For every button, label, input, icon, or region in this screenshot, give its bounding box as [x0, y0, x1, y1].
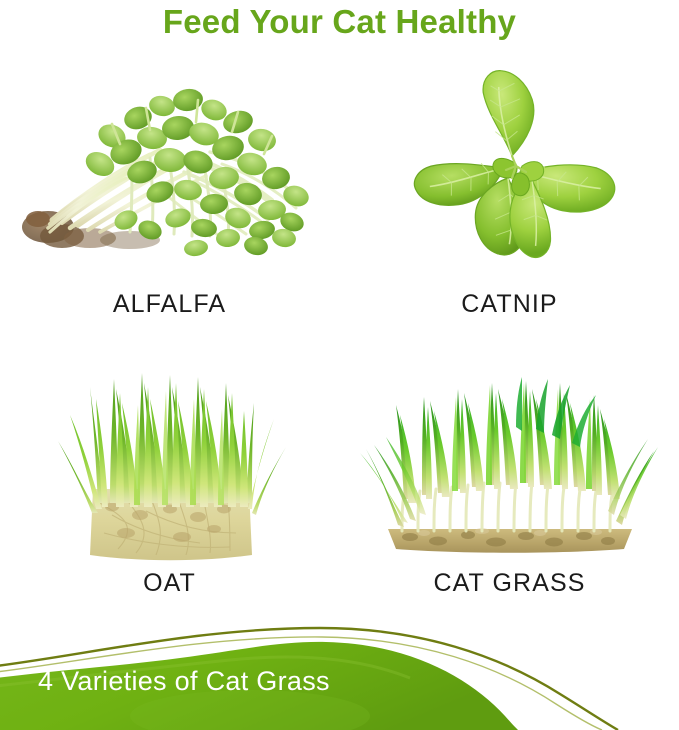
- oat-grass-photo: [0, 343, 339, 571]
- variety-label-catnip: CATNIP: [340, 288, 679, 320]
- variety-label-alfalfa: ALFALFA: [0, 288, 339, 320]
- variety-grid: ALFALFA: [0, 60, 679, 625]
- banner-text: 4 Varieties of Cat Grass: [38, 664, 330, 698]
- bottom-banner: 4 Varieties of Cat Grass: [0, 620, 679, 730]
- variety-label-oat: OAT: [0, 567, 339, 599]
- catnip-leaves-photo: [340, 60, 679, 288]
- variety-cell-catnip: CATNIP: [340, 60, 679, 342]
- variety-label-cat-grass: CAT GRASS: [340, 567, 679, 599]
- page-title: Feed Your Cat Healthy: [0, 2, 679, 42]
- infographic-root: Feed Your Cat Healthy: [0, 0, 679, 730]
- cat-grass-photo: [340, 343, 679, 571]
- alfalfa-sprouts-photo: [0, 60, 339, 288]
- variety-cell-alfalfa: ALFALFA: [0, 60, 339, 342]
- variety-cell-oat: OAT: [0, 343, 339, 625]
- variety-cell-cat-grass: CAT GRASS: [340, 343, 679, 625]
